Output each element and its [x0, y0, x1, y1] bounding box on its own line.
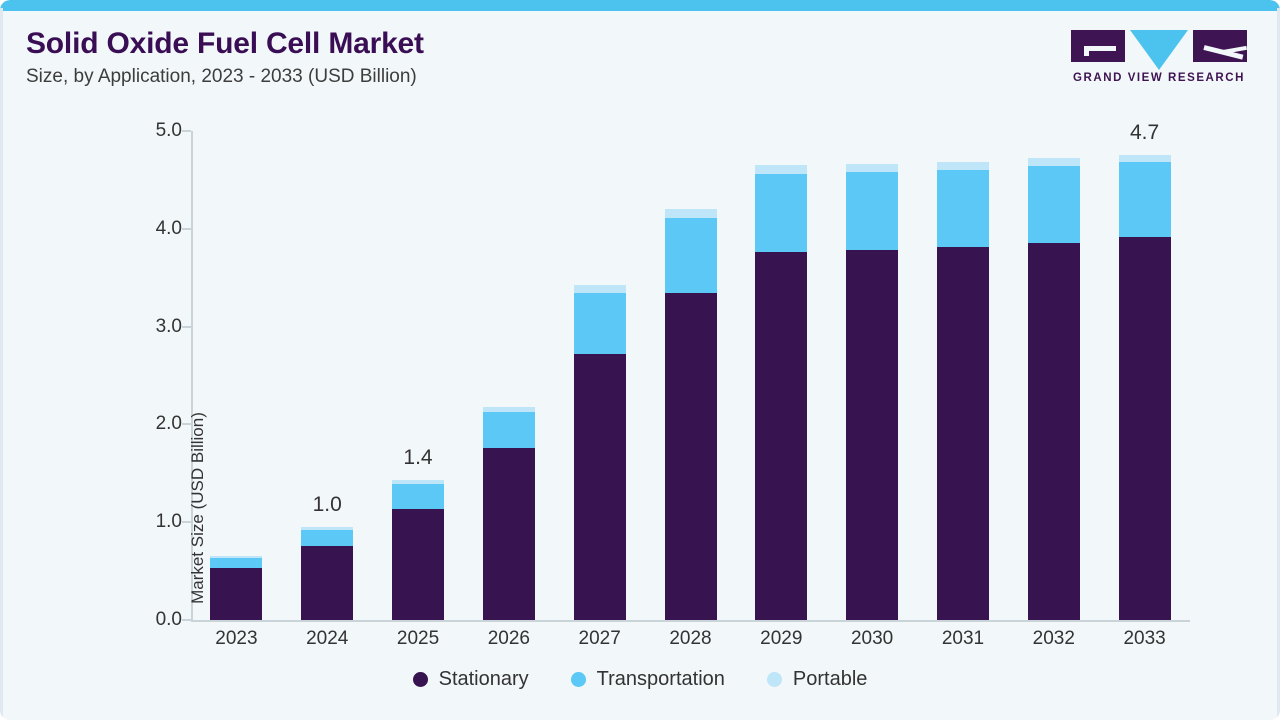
- bar-group[interactable]: [937, 131, 989, 620]
- bar-segment-portable[interactable]: [665, 209, 717, 218]
- chart-legend: StationaryTransportationPortable: [0, 668, 1280, 691]
- bar-stack: [755, 165, 807, 620]
- bar-segment-stationary[interactable]: [392, 509, 444, 620]
- brand-logo: GRAND VIEW RESEARCH: [1068, 30, 1250, 84]
- bar-stack: [846, 164, 898, 620]
- plot-area: 1.01.44.7: [191, 131, 1190, 620]
- logo-g-icon: [1071, 30, 1125, 62]
- bar-segment-stationary[interactable]: [574, 354, 626, 620]
- bar-group[interactable]: [1028, 131, 1080, 620]
- bar-value-label: 1.4: [358, 446, 478, 470]
- y-tick-mark: [182, 521, 191, 523]
- bar-segment-transportation[interactable]: [665, 218, 717, 293]
- chart-header: Solid Oxide Fuel Cell Market Size, by Ap…: [26, 26, 1026, 88]
- bar-segment-stationary[interactable]: [1119, 237, 1171, 620]
- bar-value-label: 1.0: [267, 493, 387, 517]
- y-tick-label: 4.0: [122, 218, 182, 240]
- bar-segment-transportation[interactable]: [301, 530, 353, 546]
- x-axis-line: [191, 620, 1190, 622]
- legend-swatch-icon: [571, 672, 586, 687]
- bar-segment-transportation[interactable]: [1119, 162, 1171, 236]
- bar-segment-portable[interactable]: [1119, 155, 1171, 162]
- left-border: [0, 8, 3, 720]
- bar-segment-transportation[interactable]: [846, 172, 898, 250]
- bar-segment-portable[interactable]: [574, 285, 626, 294]
- y-tick-mark: [182, 228, 191, 230]
- bar-stack: [1028, 158, 1080, 620]
- page-subtitle: Size, by Application, 2023 - 2033 (USD B…: [26, 66, 1026, 88]
- logo-r-icon: [1193, 30, 1247, 62]
- bar-segment-portable[interactable]: [846, 164, 898, 172]
- y-tick-label: 1.0: [122, 511, 182, 533]
- legend-item-transportation[interactable]: Transportation: [571, 668, 725, 691]
- bar-segment-stationary[interactable]: [210, 568, 262, 620]
- y-tick-label: 0.0: [122, 609, 182, 631]
- y-tick-mark: [182, 619, 191, 621]
- bar-group[interactable]: [665, 131, 717, 620]
- legend-swatch-icon: [767, 672, 782, 687]
- bar-segment-portable[interactable]: [1028, 158, 1080, 166]
- bar-stack: [210, 556, 262, 620]
- bar-segment-transportation[interactable]: [483, 412, 535, 448]
- bar-stack: [301, 527, 353, 620]
- top-accent-bar: [0, 0, 1280, 11]
- logo-triangle-icon: [1130, 30, 1188, 70]
- y-tick-mark: [182, 326, 191, 328]
- bar-segment-portable[interactable]: [937, 162, 989, 170]
- logo-marks: [1068, 30, 1250, 64]
- bar-stack: [665, 209, 717, 620]
- bar-group[interactable]: 1.0: [301, 131, 353, 620]
- bar-stack: [392, 480, 444, 620]
- bar-group[interactable]: [210, 131, 262, 620]
- y-tick-mark: [182, 130, 191, 132]
- bar-group[interactable]: [574, 131, 626, 620]
- bar-group[interactable]: [755, 131, 807, 620]
- y-axis-title-wrapper: Market Size (USD Billion): [76, 240, 102, 500]
- bar-segment-portable[interactable]: [755, 165, 807, 174]
- y-tick-label: 3.0: [122, 316, 182, 338]
- bar-segment-transportation[interactable]: [210, 558, 262, 568]
- bar-stack: [483, 407, 535, 620]
- x-tick-label: 2033: [1085, 628, 1205, 650]
- bar-segment-transportation[interactable]: [937, 170, 989, 247]
- bar-segment-stationary[interactable]: [846, 250, 898, 620]
- bar-segment-stationary[interactable]: [1028, 243, 1080, 621]
- page-title: Solid Oxide Fuel Cell Market: [26, 26, 1026, 61]
- bar-group[interactable]: [483, 131, 535, 620]
- bar-segment-stationary[interactable]: [755, 252, 807, 620]
- legend-item-portable[interactable]: Portable: [767, 668, 868, 691]
- bar-stack: [937, 162, 989, 620]
- bar-value-label: 4.7: [1085, 121, 1205, 145]
- chart-canvas: Solid Oxide Fuel Cell Market Size, by Ap…: [0, 0, 1280, 720]
- legend-label: Stationary: [439, 668, 529, 691]
- y-tick-mark: [182, 423, 191, 425]
- bar-group[interactable]: [846, 131, 898, 620]
- bar-segment-transportation[interactable]: [755, 174, 807, 252]
- legend-label: Transportation: [597, 668, 725, 691]
- bar-group[interactable]: 1.4: [392, 131, 444, 620]
- y-tick-label: 2.0: [122, 413, 182, 435]
- y-tick-label: 5.0: [122, 120, 182, 142]
- bar-segment-transportation[interactable]: [392, 484, 444, 508]
- bar-segment-transportation[interactable]: [574, 293, 626, 354]
- legend-item-stationary[interactable]: Stationary: [413, 668, 529, 691]
- legend-label: Portable: [793, 668, 868, 691]
- bar-group[interactable]: 4.7: [1119, 131, 1171, 620]
- legend-swatch-icon: [413, 672, 428, 687]
- bar-segment-stationary[interactable]: [665, 293, 717, 620]
- bar-segment-stationary[interactable]: [301, 546, 353, 620]
- bar-segment-transportation[interactable]: [1028, 166, 1080, 242]
- bar-segment-stationary[interactable]: [937, 247, 989, 620]
- bar-segment-stationary[interactable]: [483, 448, 535, 620]
- bar-stack: [1119, 155, 1171, 620]
- bar-stack: [574, 285, 626, 620]
- logo-wordmark: GRAND VIEW RESEARCH: [1068, 72, 1250, 84]
